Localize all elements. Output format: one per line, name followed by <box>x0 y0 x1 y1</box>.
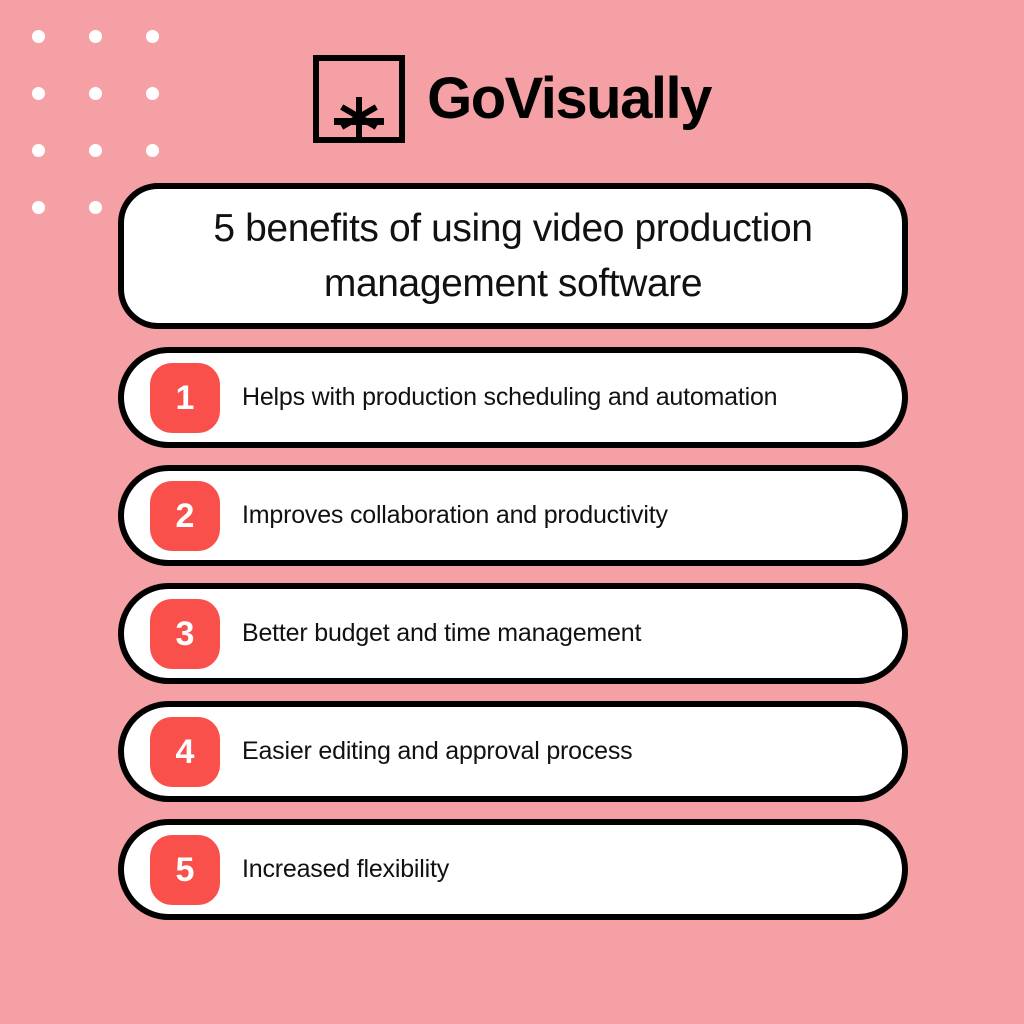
title-card: 5 benefits of using video production man… <box>118 183 908 329</box>
decorative-dot <box>32 30 45 43</box>
decorative-dot <box>89 30 102 43</box>
benefit-label: Easier editing and approval process <box>242 731 632 772</box>
benefit-number-badge: 2 <box>150 481 220 551</box>
benefit-label: Increased flexibility <box>242 849 449 890</box>
decorative-dot <box>32 201 45 214</box>
benefit-label: Helps with production scheduling and aut… <box>242 377 777 418</box>
decorative-dot <box>146 30 159 43</box>
benefit-label: Better budget and time management <box>242 613 641 654</box>
page-title: 5 benefits of using video production man… <box>158 201 868 312</box>
benefit-number-badge: 1 <box>150 363 220 433</box>
asterisk-icon <box>337 95 381 139</box>
benefits-list: 1Helps with production scheduling and au… <box>118 347 908 937</box>
decorative-dot <box>146 144 159 157</box>
logo-underline <box>334 118 384 125</box>
decorative-dot <box>89 144 102 157</box>
govisually-asterisk-logo-icon <box>313 55 405 143</box>
brand-header: GoVisually <box>0 55 1024 143</box>
decorative-dot <box>89 201 102 214</box>
benefit-number-badge: 3 <box>150 599 220 669</box>
benefit-number-badge: 5 <box>150 835 220 905</box>
benefit-card: 4Easier editing and approval process <box>118 701 908 802</box>
benefit-card: 5Increased flexibility <box>118 819 908 920</box>
benefit-card: 1Helps with production scheduling and au… <box>118 347 908 448</box>
benefit-card: 2Improves collaboration and productivity <box>118 465 908 566</box>
brand-name: GoVisually <box>427 70 711 128</box>
decorative-dot <box>32 144 45 157</box>
benefit-number-badge: 4 <box>150 717 220 787</box>
benefit-label: Improves collaboration and productivity <box>242 495 668 536</box>
benefit-card: 3Better budget and time management <box>118 583 908 684</box>
